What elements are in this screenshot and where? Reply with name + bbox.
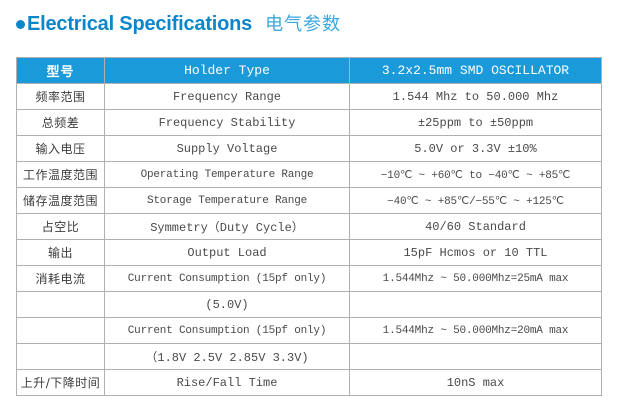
row-value: ±25ppm to ±50ppm (350, 110, 602, 136)
table-body: 频率范围 Frequency Range 1.544 Mhz to 50.000… (17, 84, 602, 396)
row-label-cn: 输入电压 (17, 136, 105, 162)
table-row: 频率范围 Frequency Range 1.544 Mhz to 50.000… (17, 84, 602, 110)
table-header-oscillator: 3.2x2.5mm SMD OSCILLATOR (350, 58, 602, 84)
row-value: −40℃ ~ +85℃/−55℃ ~ +125℃ (350, 188, 602, 214)
row-value: 5.0V or 3.3V ±10% (350, 136, 602, 162)
row-value: −10℃ ~ +60℃ to −40℃ ~ +85℃ (350, 162, 602, 188)
row-label-cn: 上升/下降时间 (17, 370, 105, 396)
table-header-holder-type: Holder Type (105, 58, 350, 84)
row-label-en: Symmetry（Duty Cycle） (105, 214, 350, 240)
row-label-en: Supply Voltage (105, 136, 350, 162)
row-label-en: Current Consumption (15pf only) (105, 266, 350, 292)
spec-sheet-page: Electrical Specifications 电气参数 型号 Holder… (0, 0, 620, 404)
row-label-en: Storage Temperature Range (105, 188, 350, 214)
table-row: 占空比 Symmetry（Duty Cycle） 40/60 Standard (17, 214, 602, 240)
page-title: Electrical Specifications 电气参数 (16, 10, 341, 36)
row-label-cn: 输出 (17, 240, 105, 266)
table-row: 输入电压 Supply Voltage 5.0V or 3.3V ±10% (17, 136, 602, 162)
row-label-en: Frequency Range (105, 84, 350, 110)
row-label-cn: 占空比 (17, 214, 105, 240)
row-value: 1.544 Mhz to 50.000 Mhz (350, 84, 602, 110)
table-row: 工作温度范围 Operating Temperature Range −10℃ … (17, 162, 602, 188)
row-value: 15pF Hcmos or 10 TTL (350, 240, 602, 266)
bullet-dot-icon (16, 20, 25, 29)
row-value (350, 344, 602, 370)
row-value (350, 292, 602, 318)
table-row: 消耗电流 Current Consumption (15pf only) 1.5… (17, 266, 602, 292)
row-label-en: Current Consumption (15pf only) (105, 318, 350, 344)
table-row: （1.8V 2.5V 2.85V 3.3V) (17, 344, 602, 370)
row-label-cn (17, 292, 105, 318)
row-label-cn (17, 344, 105, 370)
table-row: 输出 Output Load 15pF Hcmos or 10 TTL (17, 240, 602, 266)
electrical-specifications-table: 型号 Holder Type 3.2x2.5mm SMD OSCILLATOR … (16, 57, 602, 396)
row-value: 10nS max (350, 370, 602, 396)
row-label-en: Operating Temperature Range (105, 162, 350, 188)
table-row: (5.0V) (17, 292, 602, 318)
table-row: 储存温度范围 Storage Temperature Range −40℃ ~ … (17, 188, 602, 214)
row-label-cn: 消耗电流 (17, 266, 105, 292)
table-row: 总频差 Frequency Stability ±25ppm to ±50ppm (17, 110, 602, 136)
page-title-english: Electrical Specifications (27, 13, 252, 36)
row-value: 1.544Mhz ~ 50.000Mhz=25mA max (350, 266, 602, 292)
row-label-en: Output Load (105, 240, 350, 266)
row-label-cn: 总频差 (17, 110, 105, 136)
table-row: 上升/下降时间 Rise/Fall Time 10nS max (17, 370, 602, 396)
row-label-cn: 储存温度范围 (17, 188, 105, 214)
row-label-cn (17, 318, 105, 344)
row-label-en: Rise/Fall Time (105, 370, 350, 396)
row-label-cn: 工作温度范围 (17, 162, 105, 188)
row-label-en: （1.8V 2.5V 2.85V 3.3V) (105, 344, 350, 370)
table-row: Current Consumption (15pf only) 1.544Mhz… (17, 318, 602, 344)
row-value: 1.544Mhz ~ 50.000Mhz=20mA max (350, 318, 602, 344)
table-header: 型号 Holder Type 3.2x2.5mm SMD OSCILLATOR (17, 58, 602, 84)
table-header-row: 型号 Holder Type 3.2x2.5mm SMD OSCILLATOR (17, 58, 602, 84)
page-title-chinese: 电气参数 (265, 10, 341, 36)
row-label-en: (5.0V) (105, 292, 350, 318)
row-label-cn: 频率范围 (17, 84, 105, 110)
row-label-en: Frequency Stability (105, 110, 350, 136)
table-header-model: 型号 (17, 58, 105, 84)
row-value: 40/60 Standard (350, 214, 602, 240)
